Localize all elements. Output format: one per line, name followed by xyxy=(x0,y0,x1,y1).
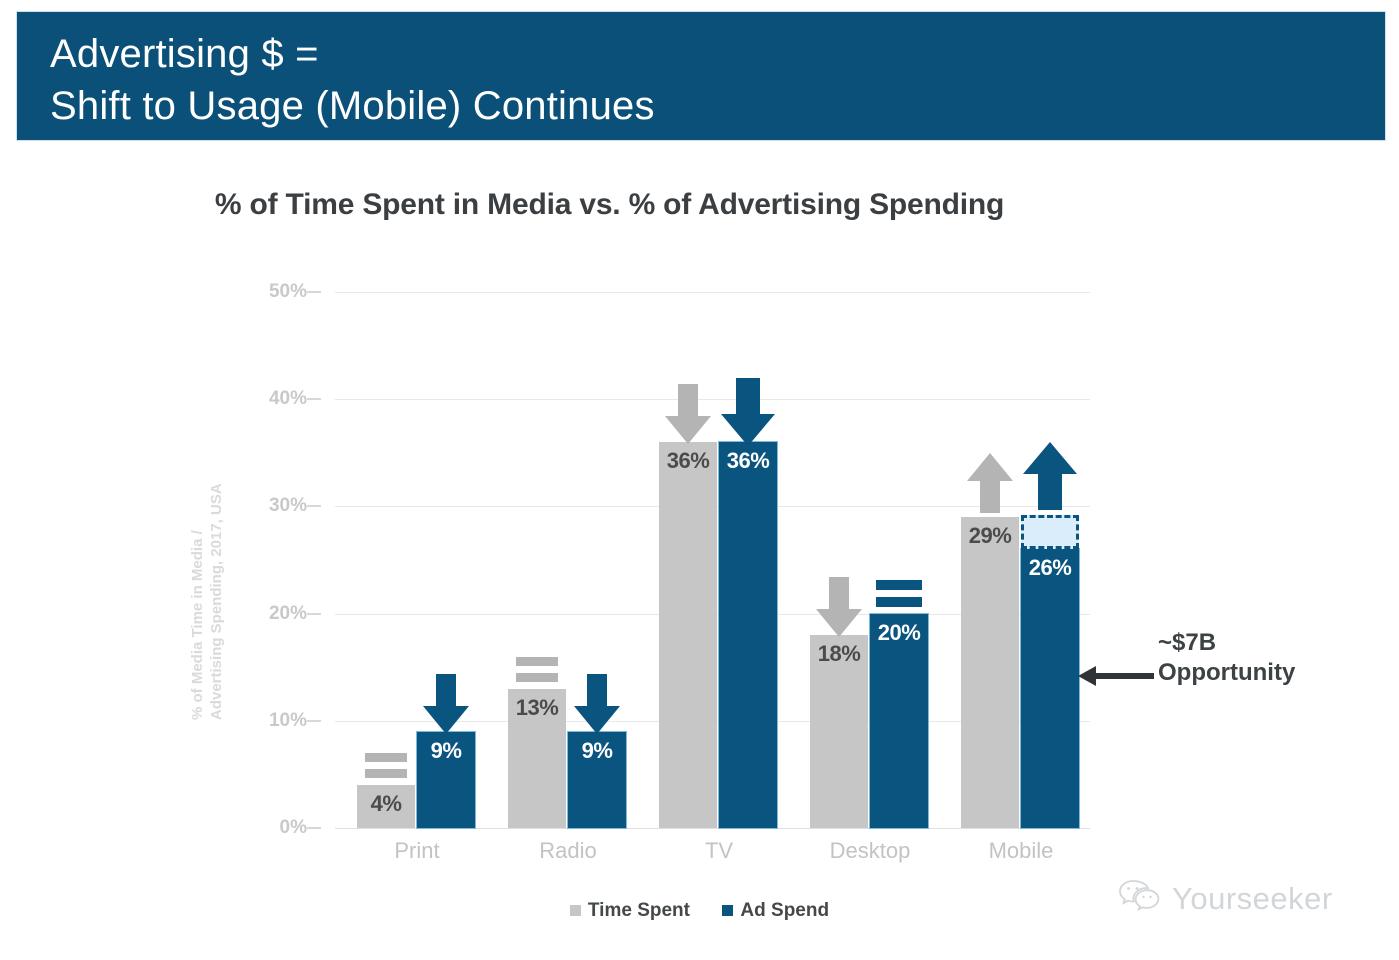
bar-label-mobile-time-spent: 29% xyxy=(961,523,1019,549)
y-tick-dash-10 xyxy=(307,720,321,722)
arrow-down-icon-desktop-time-spent xyxy=(814,577,864,639)
arrow-down-icon-tv-time-spent xyxy=(663,384,713,446)
y-tick-dash-50 xyxy=(307,291,321,293)
y-tick-30: 30% xyxy=(269,495,307,517)
gridline-0 xyxy=(335,828,1090,829)
x-label-desktop: Desktop xyxy=(800,838,940,864)
y-tick-0: 0% xyxy=(280,817,307,839)
bar-label-tv-time-spent: 36% xyxy=(659,448,717,474)
bar-label-radio-time-spent: 13% xyxy=(508,695,566,721)
arrow-down-icon-print-ad-spend xyxy=(421,674,471,736)
y-tick-dash-30 xyxy=(307,505,321,507)
bar-group-mobile: 29% 26% xyxy=(951,292,1091,828)
y-axis-title-text: % of Media Time in Media / Advertising S… xyxy=(188,340,226,720)
watermark: Yourseeker xyxy=(1118,878,1333,919)
legend-swatch-time-spent xyxy=(570,905,581,916)
bar-label-radio-ad-spend: 9% xyxy=(568,738,626,764)
legend-label-time-spent: Time Spent xyxy=(588,900,690,921)
legend-item-time-spent[interactable]: Time Spent xyxy=(570,900,690,922)
bar-tv-ad-spend[interactable]: 36% xyxy=(719,442,777,828)
opportunity-gap-box[interactable] xyxy=(1021,515,1079,549)
watermark-label: Yourseeker xyxy=(1172,881,1333,917)
equals-icon-print-time-spent xyxy=(365,751,407,781)
arrow-up-icon-mobile-time-spent xyxy=(965,451,1015,513)
x-label-tv: TV xyxy=(649,838,789,864)
y-tick-20: 20% xyxy=(269,603,307,625)
y-tick-dash-0 xyxy=(307,827,321,829)
opportunity-callout: ~$7B Opportunity xyxy=(1100,628,1380,688)
y-tick-dash-20 xyxy=(307,613,321,615)
bar-tv-time-spent[interactable]: 36% xyxy=(659,442,717,828)
bar-label-tv-ad-spend: 36% xyxy=(719,448,777,474)
bar-group-desktop: 18% 20% xyxy=(800,292,940,828)
bar-print-time-spent[interactable]: 4% xyxy=(357,785,415,828)
bar-radio-ad-spend[interactable]: 9% xyxy=(568,732,626,828)
bar-label-print-time-spent: 4% xyxy=(357,791,415,817)
chart-figure: % of Time Spent in Media vs. % of Advert… xyxy=(0,140,1399,960)
arrow-down-icon-tv-ad-spend xyxy=(719,378,777,448)
y-tick-dash-40 xyxy=(307,398,321,400)
y-tick-40: 40% xyxy=(269,388,307,410)
bar-label-desktop-ad-spend: 20% xyxy=(870,620,928,646)
x-label-radio: Radio xyxy=(498,838,638,864)
chart-title: % of Time Spent in Media vs. % of Advert… xyxy=(0,188,1399,222)
y-axis: 50% 40% 30% 20% 10% 0% xyxy=(265,140,335,840)
header-banner: Advertising $ = Shift to Usage (Mobile) … xyxy=(17,12,1385,140)
bar-desktop-time-spent[interactable]: 18% xyxy=(810,635,868,828)
bar-print-ad-spend[interactable]: 9% xyxy=(417,732,475,828)
wechat-icon xyxy=(1118,878,1162,919)
y-tick-50: 50% xyxy=(269,281,307,303)
legend-swatch-ad-spend xyxy=(722,905,733,916)
plot-area: 4% 9% 13% 9% xyxy=(335,292,1090,828)
bar-label-mobile-ad-spend: 26% xyxy=(1021,555,1079,581)
equals-icon-desktop-ad-spend xyxy=(876,578,922,610)
legend-label-ad-spend: Ad Spend xyxy=(740,900,829,921)
bar-group-print: 4% 9% xyxy=(347,292,487,828)
bar-mobile-ad-spend[interactable]: 26% xyxy=(1021,549,1079,828)
bar-label-desktop-time-spent: 18% xyxy=(810,641,868,667)
arrow-up-icon-mobile-ad-spend xyxy=(1021,440,1079,510)
bar-radio-time-spent[interactable]: 13% xyxy=(508,689,566,828)
x-label-print: Print xyxy=(347,838,487,864)
arrow-left-icon-opportunity xyxy=(1078,664,1156,693)
bar-label-print-ad-spend: 9% xyxy=(417,738,475,764)
equals-icon-radio-time-spent xyxy=(516,655,558,685)
y-axis-title: % of Media Time in Media / Advertising S… xyxy=(188,340,248,720)
arrow-down-icon-radio-ad-spend xyxy=(572,674,622,736)
bar-desktop-ad-spend[interactable]: 20% xyxy=(870,614,928,828)
x-axis: Print Radio TV Desktop Mobile xyxy=(335,838,1090,878)
bar-group-tv: 36% 36% xyxy=(649,292,789,828)
bar-group-radio: 13% 9% xyxy=(498,292,638,828)
x-label-mobile: Mobile xyxy=(951,838,1091,864)
y-tick-10: 10% xyxy=(269,710,307,732)
page-title: Advertising $ = Shift to Usage (Mobile) … xyxy=(50,28,655,132)
legend-item-ad-spend[interactable]: Ad Spend xyxy=(722,900,829,922)
bar-mobile-time-spent[interactable]: 29% xyxy=(961,517,1019,828)
